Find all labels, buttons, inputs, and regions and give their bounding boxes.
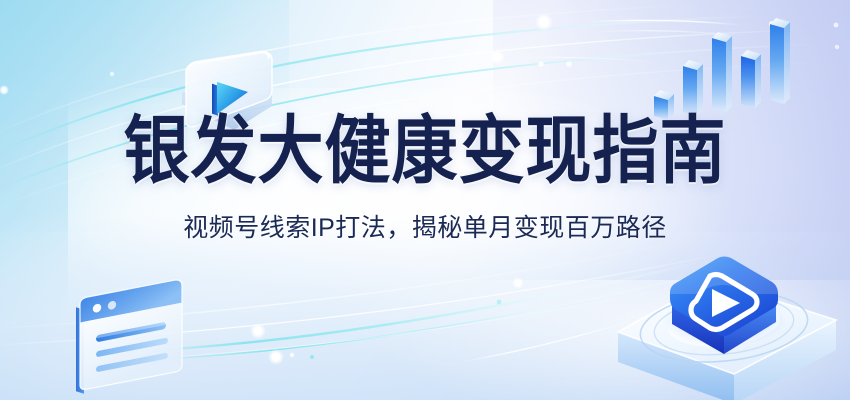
bar-3: [712, 32, 732, 112]
page-title: 银发大健康变现指南: [0, 112, 850, 190]
banner-text-block: 银发大健康变现指南 视频号线索IP打法，揭秘单月变现百万路径: [0, 112, 850, 244]
bar-2: [683, 60, 703, 116]
page-subtitle: 视频号线索IP打法，揭秘单月变现百万路径: [0, 208, 850, 244]
bar-5: [770, 18, 790, 104]
bar-4: [741, 50, 761, 108]
browser-window-card: [62, 278, 192, 396]
pedestal-with-app-icon: [600, 262, 850, 400]
promo-banner: 银发大健康变现指南 视频号线索IP打法，揭秘单月变现百万路径: [0, 0, 850, 400]
bar-chart-3d: [648, 12, 798, 124]
